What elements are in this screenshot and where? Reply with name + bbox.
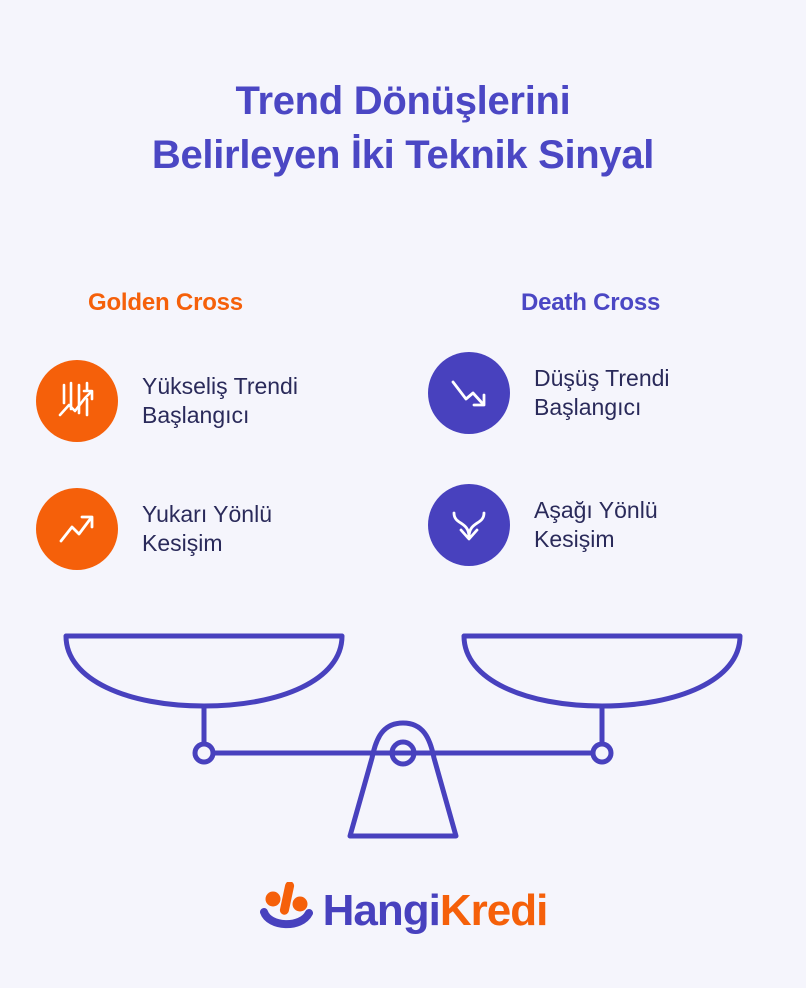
feature-item-uptrend-start: Yükseliş Trendi Başlangıcı [36, 360, 298, 442]
page-title-line-2: Belirleyen İki Teknik Sinyal [0, 128, 806, 182]
candlestick-uptrend-icon [36, 360, 118, 442]
infographic-page: Trend Dönüşlerini Belirleyen İki Teknik … [0, 0, 806, 988]
page-title-line-1: Trend Dönüşlerini [0, 74, 806, 128]
hangikredi-logo: HangiKredi [0, 882, 806, 939]
feature-item-downtrend-start: Düşüş Trendi Başlangıcı [428, 352, 670, 434]
arrow-trend-down-icon [428, 352, 510, 434]
feature-label: Yukarı Yönlü Kesişim [142, 500, 272, 559]
logo-text-kredi: Kredi [440, 886, 547, 935]
golden-cross-heading: Golden Cross [88, 289, 243, 317]
feature-label: Düşüş Trendi Başlangıcı [534, 364, 670, 423]
page-title: Trend Dönüşlerini Belirleyen İki Teknik … [0, 74, 806, 183]
feature-item-upward-crossover: Yukarı Yönlü Kesişim [36, 488, 272, 570]
death-cross-heading: Death Cross [521, 289, 660, 317]
feature-item-downward-crossover: Aşağı Yönlü Kesişim [428, 484, 658, 566]
logo-text-hangi: Hangi [323, 886, 440, 935]
converging-down-arrow-icon [428, 484, 510, 566]
feature-label: Aşağı Yönlü Kesişim [534, 496, 658, 555]
logo-wordmark: HangiKredi [323, 889, 548, 933]
balance-scale-illustration [50, 620, 756, 855]
arrow-trend-up-icon [36, 488, 118, 570]
feature-label: Yükseliş Trendi Başlangıcı [142, 372, 298, 431]
percent-smiley-mark-icon [259, 882, 313, 939]
